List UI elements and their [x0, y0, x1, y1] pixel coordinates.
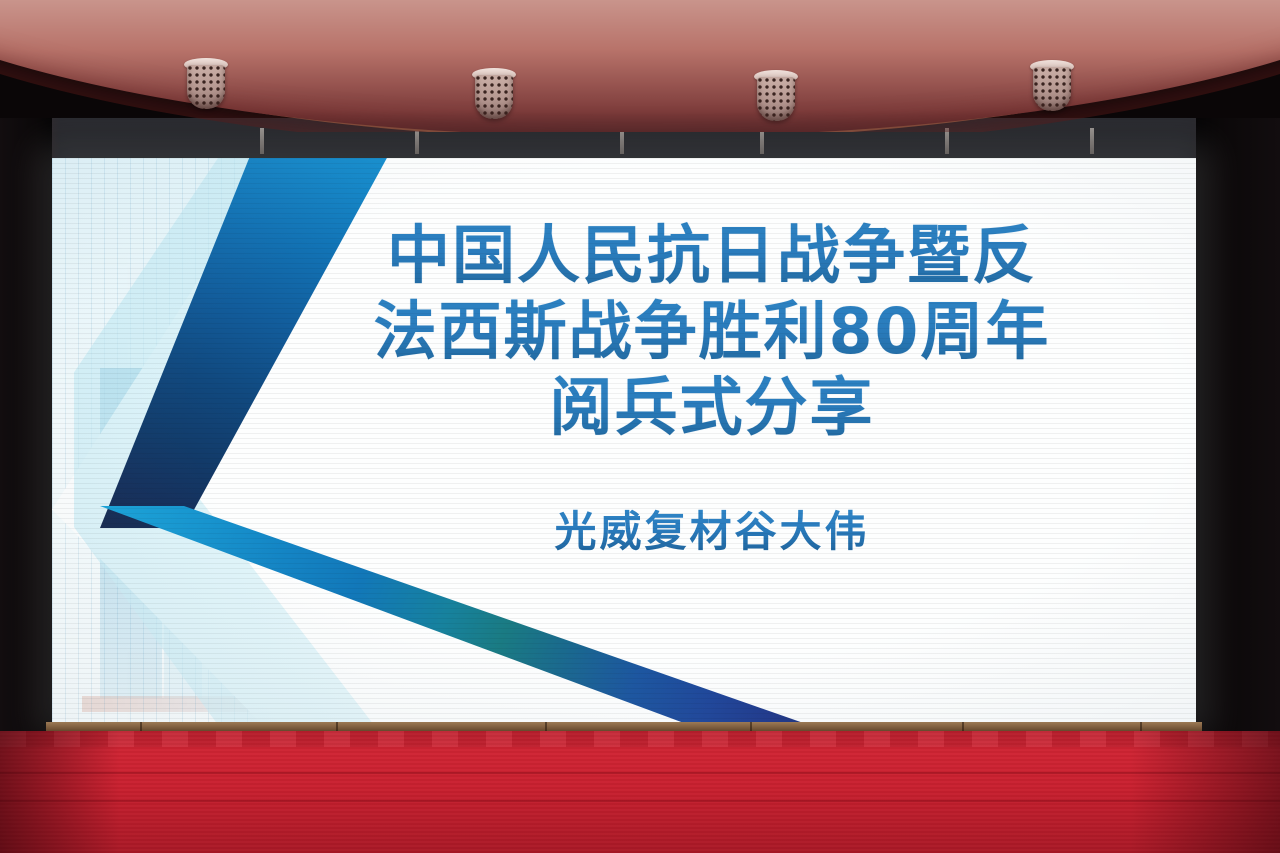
diffuser-grille: [475, 75, 513, 119]
right-dark-column: [1196, 118, 1280, 732]
slide-title-line-3: 阅兵式分享: [292, 370, 1132, 446]
diffuser-grille: [757, 77, 795, 121]
ceiling-diffuser-2: [470, 68, 518, 124]
slide-title-line-2: 法西斯战争胜利80周年: [292, 294, 1132, 370]
hall-scene: 中国人民抗日战争暨反 法西斯战争胜利80周年 阅兵式分享 光威复材谷大伟: [0, 0, 1280, 853]
left-dark-column: [0, 118, 52, 732]
slide-title: 中国人民抗日战争暨反 法西斯战争胜利80周年 阅兵式分享: [292, 218, 1132, 446]
carpet-seam: [0, 800, 1280, 802]
carpet-top-ripple: [0, 731, 1280, 747]
diffuser-grille: [187, 65, 225, 109]
carpet-right-shadow: [1130, 731, 1280, 853]
slide-subtitle: 光威复材谷大伟: [292, 498, 1132, 559]
diffuser-grille: [1033, 67, 1071, 111]
carpet-texture: [0, 731, 1280, 853]
ceiling-diffuser-3: [752, 70, 800, 126]
carpet-left-shadow: [0, 731, 120, 853]
ceiling-diffuser-4: [1028, 60, 1076, 116]
ceiling: [0, 0, 1280, 132]
carpet-seam: [0, 772, 1280, 774]
slide-title-line-1: 中国人民抗日战争暨反: [292, 218, 1132, 294]
ceiling-diffuser-1: [182, 58, 230, 114]
presentation-slide: 中国人民抗日战争暨反 法西斯战争胜利80周年 阅兵式分享 光威复材谷大伟: [52, 158, 1196, 725]
led-screen[interactable]: 中国人民抗日战争暨反 法西斯战争胜利80周年 阅兵式分享 光威复材谷大伟: [52, 158, 1196, 725]
